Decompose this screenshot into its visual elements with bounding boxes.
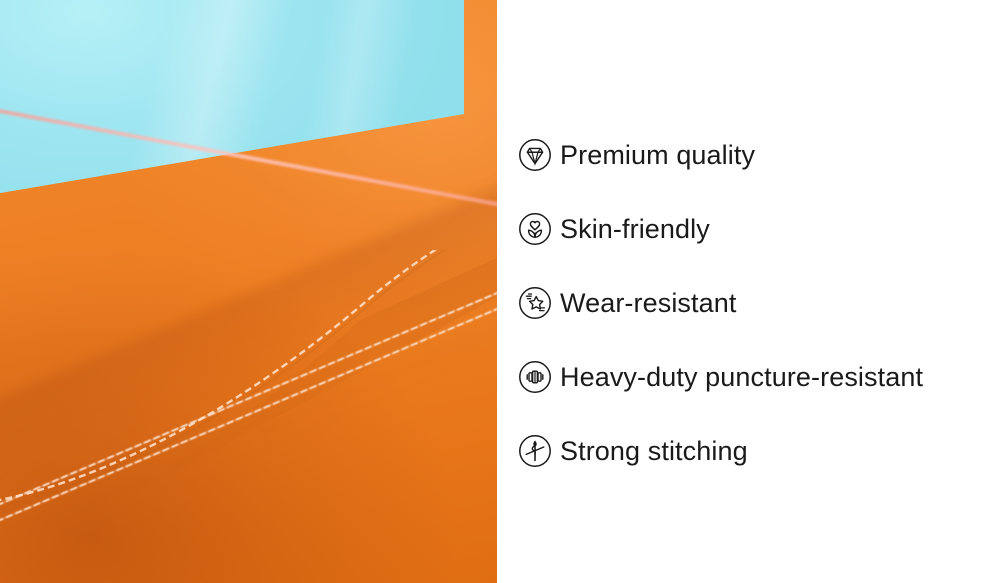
feature-item-heavy-duty-puncture-resistant: Heavy-duty puncture-resistant bbox=[518, 340, 923, 414]
feature-label: Heavy-duty puncture-resistant bbox=[560, 360, 923, 394]
dumbbell-icon bbox=[518, 360, 552, 394]
features-panel: Premium quality Skin-friendly bbox=[497, 0, 1000, 583]
diamond-icon bbox=[518, 138, 552, 172]
feature-label: Strong stitching bbox=[560, 434, 748, 468]
feature-item-premium-quality: Premium quality bbox=[518, 118, 923, 192]
feature-item-strong-stitching: Strong stitching bbox=[518, 414, 923, 488]
product-photo bbox=[0, 0, 497, 583]
feature-item-wear-resistant: Wear-resistant bbox=[518, 266, 923, 340]
heart-leaves-icon bbox=[518, 212, 552, 246]
feature-label: Wear-resistant bbox=[560, 286, 736, 320]
feature-label: Premium quality bbox=[560, 138, 755, 172]
star-sparkle-icon bbox=[518, 286, 552, 320]
feature-item-skin-friendly: Skin-friendly bbox=[518, 192, 923, 266]
product-feature-banner: Premium quality Skin-friendly bbox=[0, 0, 1000, 583]
feature-label: Skin-friendly bbox=[560, 212, 710, 246]
needle-thread-icon bbox=[518, 434, 552, 468]
feature-list: Premium quality Skin-friendly bbox=[518, 118, 923, 488]
